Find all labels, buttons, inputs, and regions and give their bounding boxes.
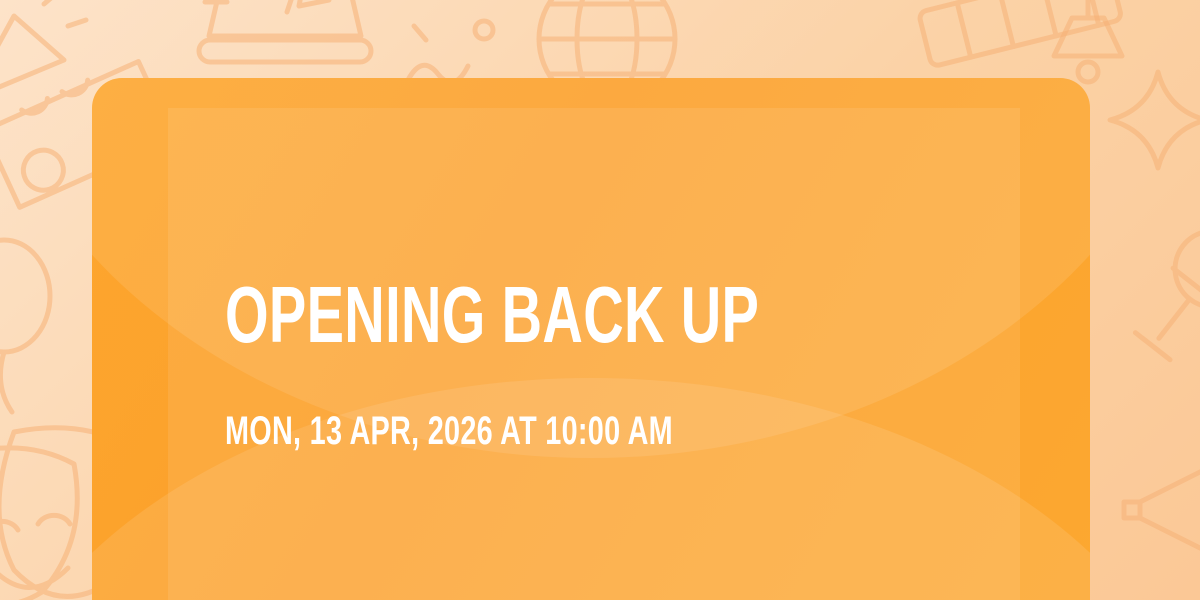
- sparkle-icon: [1098, 60, 1200, 180]
- laptop-icon: [185, 0, 385, 88]
- microphone-icon: [1128, 218, 1200, 388]
- event-text-block: OPENING BACK UP MON, 13 APR, 2026 AT 10:…: [225, 274, 1030, 452]
- event-banner: OPENING BACK UP MON, 13 APR, 2026 AT 10:…: [0, 0, 1200, 600]
- event-datetime: MON, 13 APR, 2026 AT 10:00 AM: [225, 356, 805, 452]
- event-title: OPENING BACK UP: [225, 274, 789, 356]
- balloon-icon: [0, 230, 90, 420]
- megaphone-icon: [1116, 430, 1200, 590]
- event-card: OPENING BACK UP MON, 13 APR, 2026 AT 10:…: [92, 78, 1090, 600]
- party-popper-icon: [0, 0, 98, 132]
- film-strip-icon: [900, 0, 1140, 90]
